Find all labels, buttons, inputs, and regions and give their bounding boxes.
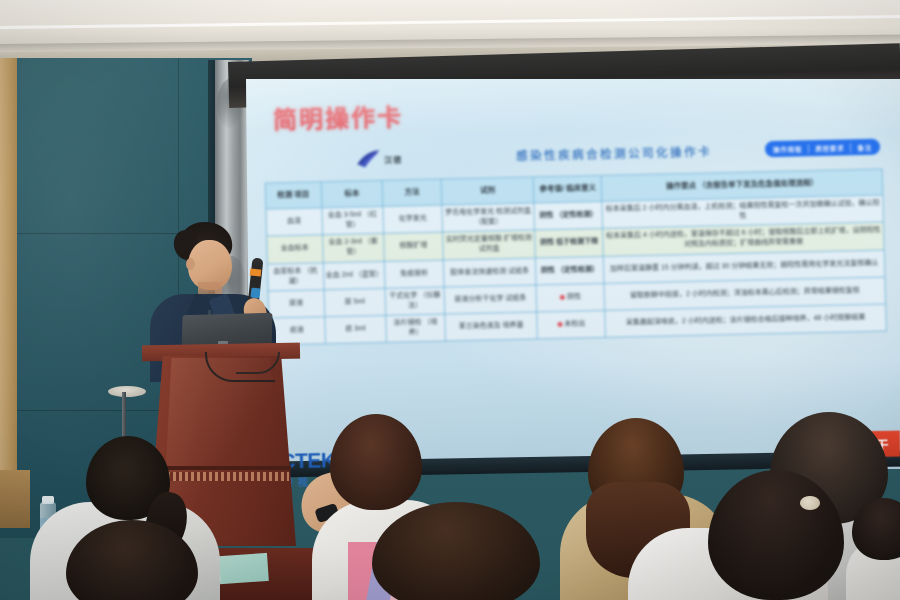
- cell-reagent: 实时荧光定量核酸 扩增检测试剂盒: [442, 230, 535, 259]
- slide-badge: 操作规程 质控要求 备注: [765, 139, 880, 158]
- cell-specimen: 痰 3ml: [324, 316, 386, 345]
- cell-method: 涂片镜检 （培养）: [386, 314, 445, 343]
- cell-specimen: 全血 2-3ml （紫管）: [322, 234, 384, 263]
- badge-divider: [850, 143, 851, 152]
- slide-header-row: 汉德 感染性疾病合检测公司化操作卡 操作规程 质控要求 备注: [356, 137, 881, 175]
- operation-card-table: 检测 项目 标本 方法 试剂 参考值/ 临床意义 操作要点 （含报告单下发及危急…: [265, 169, 887, 346]
- cell-method: 化学发光: [383, 205, 442, 234]
- cell-reference: 阴性: [536, 283, 605, 312]
- audience-head: [372, 502, 540, 600]
- badge-segment-2: 备注: [857, 142, 872, 152]
- wood-trim-lower-left: [0, 470, 30, 528]
- brand-logo-text: 汉德: [384, 154, 402, 165]
- microphone-stand-disc: [108, 386, 146, 397]
- projection-screen: 简明操作卡 汉德 感染性疾病合检测公司化操作卡 操作规程 质控要求 备注: [246, 79, 900, 469]
- cell-specimen: 全血 3-5ml （红管）: [321, 206, 383, 235]
- cell-method: 核酸扩增: [384, 232, 443, 261]
- col-header-2: 方法: [382, 179, 441, 206]
- cell-reference: 阴性 （定性检测）: [536, 256, 605, 285]
- wood-trim-left: [0, 58, 17, 528]
- audience-hair-clip-icon: [800, 496, 820, 510]
- slide-content: 简明操作卡 汉德 感染性疾病合检测公司化操作卡 操作规程 质控要求 备注: [246, 79, 900, 469]
- status-dot-icon: [557, 322, 562, 327]
- cell-specimen: 尿 5ml: [324, 288, 386, 317]
- microphone-blue-grip: [251, 288, 261, 299]
- badge-segment-0: 操作规程: [773, 143, 802, 154]
- cell-reference: 未检出: [537, 311, 606, 340]
- col-header-4: 参考值/ 临床意义: [534, 175, 603, 203]
- cell-method: 干式化学 （仪器法）: [385, 287, 444, 316]
- audience-head: [708, 470, 844, 600]
- cell-reagent: 尿液分析干化学 试纸条: [444, 285, 537, 314]
- brand-swoosh-icon: [356, 150, 382, 169]
- cell-method: 免疫层析: [385, 260, 444, 289]
- slide-subtitle: 感染性疾病合检测公司化操作卡: [516, 143, 712, 163]
- presenter-ear: [186, 258, 195, 270]
- audience-member-woman-long-hair-center: [352, 502, 562, 600]
- audience-member-woman-white-top-far-right: [846, 498, 900, 600]
- audience-member-woman-ponytail-right-front: [658, 470, 878, 600]
- badge-divider: [808, 144, 809, 153]
- table-body: 血清 全血 3-5ml （红管） 化学发光 罗氏电化学发光 检测试剂盒 （配套）…: [266, 195, 886, 345]
- audience-head: [66, 520, 198, 600]
- cell-reagent: 胶体金法快速检测 试纸条: [443, 258, 536, 287]
- slide-title: 简明操作卡: [273, 97, 404, 135]
- col-header-3: 试剂: [441, 177, 534, 205]
- cell-reference: 阴性 低于检测下限: [535, 229, 604, 258]
- cell-reagent: 革兰染色液及 培养基: [445, 312, 538, 341]
- cell-reference: 阴性 （定性检测）: [534, 201, 603, 230]
- audience-member-woman-dark-ponytail-front-left: [48, 520, 216, 600]
- status-dot-icon: [560, 294, 565, 299]
- audience-head: [852, 498, 900, 560]
- audience-head: [330, 414, 422, 510]
- microphone-orange-band: [250, 268, 262, 276]
- col-header-0: 检测 项目: [265, 182, 321, 209]
- cell-notes: 采集晨起深咳痰，2 小时内送检；涂片镜检合格后接种培养，48 小时观察结果: [605, 304, 886, 338]
- conference-photo: 简明操作卡 汉德 感染性疾病合检测公司化操作卡 操作规程 质控要求 备注: [0, 0, 900, 600]
- cell-specimen: 全血 2ml （蓝管）: [323, 261, 385, 290]
- cell-reagent: 罗氏电化学发光 检测试剂盒 （配套）: [442, 203, 535, 232]
- badge-segment-1: 质控要求: [815, 142, 844, 153]
- col-header-1: 标本: [321, 180, 383, 207]
